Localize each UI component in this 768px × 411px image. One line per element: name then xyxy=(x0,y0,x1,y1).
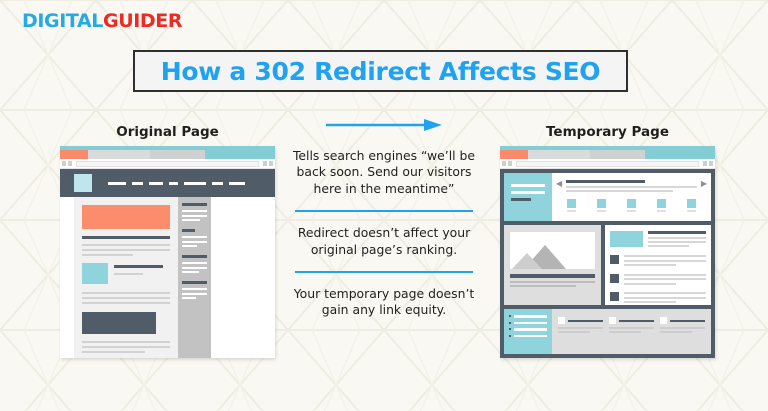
footer-card-icon xyxy=(558,317,565,324)
bookmark-icon xyxy=(263,161,267,166)
footer-section xyxy=(504,309,711,354)
chevron-right-icon[interactable]: ▶ xyxy=(701,180,707,188)
feature-caption xyxy=(567,210,576,212)
caption-temporary-page: Temporary Page xyxy=(500,124,715,140)
featured-text xyxy=(648,231,706,249)
content-line xyxy=(82,346,170,348)
article-line xyxy=(510,285,576,287)
list-item-thumbnail xyxy=(610,255,619,264)
thumbnail-caption xyxy=(114,263,170,284)
feature-caption xyxy=(627,210,636,212)
sidebar-line xyxy=(182,219,200,221)
nav-item-2 xyxy=(132,182,143,185)
footer-link xyxy=(509,328,547,331)
list-item-thumbnail xyxy=(610,274,619,283)
sidebar-line xyxy=(182,293,207,295)
hero-image-block xyxy=(82,205,170,229)
sidebar-heading xyxy=(182,281,207,284)
bullet-icon xyxy=(509,315,511,317)
browser-tab-bar xyxy=(60,146,275,159)
footer-link xyxy=(509,315,547,318)
sidebar-line xyxy=(182,210,207,212)
back-icon xyxy=(62,161,66,166)
nav-item-3 xyxy=(149,182,163,185)
list-item-text xyxy=(624,255,706,269)
bullet-icon xyxy=(509,322,511,324)
feature-caption xyxy=(687,210,696,212)
feature-icon xyxy=(657,199,666,208)
list-item-text xyxy=(624,274,706,288)
list-item-thumbnail xyxy=(610,292,619,301)
feature-icon-row xyxy=(556,199,707,212)
sidebar-line xyxy=(182,271,199,273)
feature-caption xyxy=(657,210,666,212)
browser-tab-2 xyxy=(528,150,590,159)
sidebar-line xyxy=(182,267,207,269)
list-item-line xyxy=(624,278,706,280)
page-title-box: How a 302 Redirect Affects SEO xyxy=(133,50,628,92)
content-section xyxy=(504,225,711,305)
footer-link-label xyxy=(514,315,547,318)
nav-item-7 xyxy=(229,182,245,185)
featured-line xyxy=(648,245,689,247)
footer-link xyxy=(509,322,547,325)
forward-icon xyxy=(68,161,72,166)
nav-item-1 xyxy=(108,182,126,185)
nav-item-5 xyxy=(184,182,206,185)
list-item xyxy=(610,292,706,306)
footer-card-header xyxy=(558,317,603,324)
arrow-wrapper xyxy=(283,118,485,132)
logo-text-secondary: GUIDER xyxy=(103,10,182,32)
list-item-line xyxy=(624,274,706,276)
feature-icon xyxy=(597,199,606,208)
nav-item-6 xyxy=(212,182,223,185)
carousel-line xyxy=(566,186,697,188)
featured-line xyxy=(648,241,706,243)
browser-tab-2 xyxy=(88,150,150,159)
main-content-column xyxy=(74,197,178,358)
list-item-line xyxy=(624,264,676,266)
divider-2 xyxy=(295,271,473,273)
bullet-icon xyxy=(509,335,511,337)
footer-card-line xyxy=(609,331,641,333)
carousel-line xyxy=(566,190,673,192)
list-item-line xyxy=(624,283,676,285)
thumbnail-image xyxy=(82,263,108,284)
footer-card-title xyxy=(619,320,654,322)
browser-tab-active xyxy=(500,150,528,159)
bookmark-icon xyxy=(703,161,707,166)
sidebar-line xyxy=(182,215,207,217)
footer-links-panel xyxy=(504,309,552,354)
content-line xyxy=(82,292,170,294)
page-body xyxy=(60,197,275,358)
browser-tab-3 xyxy=(150,150,205,159)
feature-icon-item xyxy=(567,199,576,212)
sidebar-heading xyxy=(182,255,207,258)
inline-media-block xyxy=(82,263,170,284)
feature-icon xyxy=(627,199,636,208)
back-icon xyxy=(502,161,506,166)
footer-cards-panel xyxy=(552,309,711,354)
footer-card-line xyxy=(558,327,603,329)
mountain-image-icon xyxy=(510,232,595,269)
article-list-card xyxy=(605,225,711,305)
menu-icon xyxy=(709,161,713,166)
sidebar-line xyxy=(182,297,196,299)
divider-1 xyxy=(295,210,473,212)
chevron-left-icon[interactable]: ◀ xyxy=(556,180,562,188)
feature-icon xyxy=(567,199,576,208)
photo-block xyxy=(82,312,156,334)
footer-card-header xyxy=(660,317,705,324)
featured-title xyxy=(648,231,706,234)
url-field xyxy=(76,161,259,167)
carousel-row: ◀ ▶ xyxy=(556,180,707,194)
feature-caption xyxy=(597,210,606,212)
footer-card-title xyxy=(670,320,705,322)
caption-original-page: Original Page xyxy=(60,124,275,140)
content-line xyxy=(114,265,163,268)
page-title: How a 302 Redirect Affects SEO xyxy=(161,57,601,86)
content-line xyxy=(82,351,145,353)
featured-item xyxy=(610,231,706,249)
list-item-line xyxy=(624,260,706,262)
forward-icon xyxy=(508,161,512,166)
site-logo[interactable]: DIGITALGUIDER xyxy=(22,10,182,32)
list-item-line xyxy=(624,292,706,294)
browser-tab-3 xyxy=(590,150,645,159)
content-line xyxy=(82,302,170,304)
content-line xyxy=(114,273,143,275)
carousel-text xyxy=(566,180,697,194)
page-sidebar xyxy=(178,197,211,358)
footer-link-label xyxy=(514,328,547,331)
content-heading xyxy=(82,236,170,239)
content-line xyxy=(82,249,170,251)
list-item-line xyxy=(624,255,706,257)
article-line xyxy=(510,281,595,283)
browser-tab-active xyxy=(60,150,88,159)
feature-icon-item xyxy=(627,199,636,212)
original-page-mockup xyxy=(60,146,275,358)
footer-card-line xyxy=(558,331,590,333)
content-line xyxy=(82,297,170,299)
hero-sidebar xyxy=(504,173,552,221)
footer-link-label xyxy=(514,322,547,325)
list-item-line xyxy=(624,301,676,303)
featured-line xyxy=(648,237,706,239)
left-gutter xyxy=(60,197,74,358)
nav-item-4 xyxy=(169,182,178,185)
footer-card-line xyxy=(660,331,692,333)
right-arrow-icon xyxy=(324,118,444,132)
hero-section: ◀ ▶ xyxy=(504,173,711,221)
feature-icon-item xyxy=(657,199,666,212)
sidebar-button xyxy=(511,198,531,201)
temporary-page-mockup: ◀ ▶ xyxy=(500,146,715,358)
featured-thumbnail xyxy=(610,231,643,247)
footer-link-label xyxy=(514,335,547,338)
page-frame: ◀ ▶ xyxy=(500,169,715,358)
content-line xyxy=(82,244,170,246)
feature-icon-item xyxy=(687,199,696,212)
content-line xyxy=(82,341,170,343)
list-item-line xyxy=(624,297,706,299)
carousel-heading xyxy=(566,180,644,183)
sidebar-heading xyxy=(182,229,195,232)
statement-2: Redirect doesn’t affect your original pa… xyxy=(283,225,485,258)
statement-1: Tells search engines “we’ll be back soon… xyxy=(283,148,485,197)
footer-card xyxy=(660,317,705,346)
mountain-peak-small xyxy=(512,253,542,269)
list-item xyxy=(610,274,706,288)
footer-card-title xyxy=(568,320,603,322)
sidebar-heading xyxy=(182,203,207,206)
hero-carousel: ◀ ▶ xyxy=(552,173,711,221)
statement-3: Your temporary page doesn’t gain any lin… xyxy=(283,286,485,319)
site-nav-logo xyxy=(74,174,92,192)
footer-card-line xyxy=(660,327,705,329)
footer-card-icon xyxy=(609,317,616,324)
sidebar-line xyxy=(511,184,545,187)
footer-card xyxy=(558,317,603,346)
browser-tab-bar xyxy=(500,146,715,159)
sidebar-line xyxy=(182,236,207,238)
sidebar-line xyxy=(182,241,207,243)
footer-card-line xyxy=(609,327,654,329)
footer-card-icon xyxy=(660,317,667,324)
feature-icon-item xyxy=(597,199,606,212)
feature-icon xyxy=(687,199,696,208)
featured-article-card xyxy=(504,225,601,305)
sidebar-line xyxy=(511,191,545,194)
article-title xyxy=(510,274,595,278)
sidebar-line xyxy=(182,288,207,290)
site-nav-bar xyxy=(60,169,275,197)
list-item-text xyxy=(624,292,706,306)
footer-card-header xyxy=(609,317,654,324)
sidebar-line xyxy=(182,245,197,247)
content-line xyxy=(82,254,133,256)
menu-icon xyxy=(269,161,273,166)
right-gutter xyxy=(211,197,275,358)
center-statements-column: Tells search engines “we’ll be back soon… xyxy=(283,118,485,319)
url-field xyxy=(516,161,699,167)
logo-text-primary: DIGITAL xyxy=(22,10,103,32)
sidebar-line xyxy=(182,262,207,264)
list-item xyxy=(610,255,706,269)
browser-url-bar xyxy=(60,159,275,169)
bullet-icon xyxy=(509,328,511,330)
footer-card xyxy=(609,317,654,346)
footer-link xyxy=(509,335,547,338)
browser-url-bar xyxy=(500,159,715,169)
